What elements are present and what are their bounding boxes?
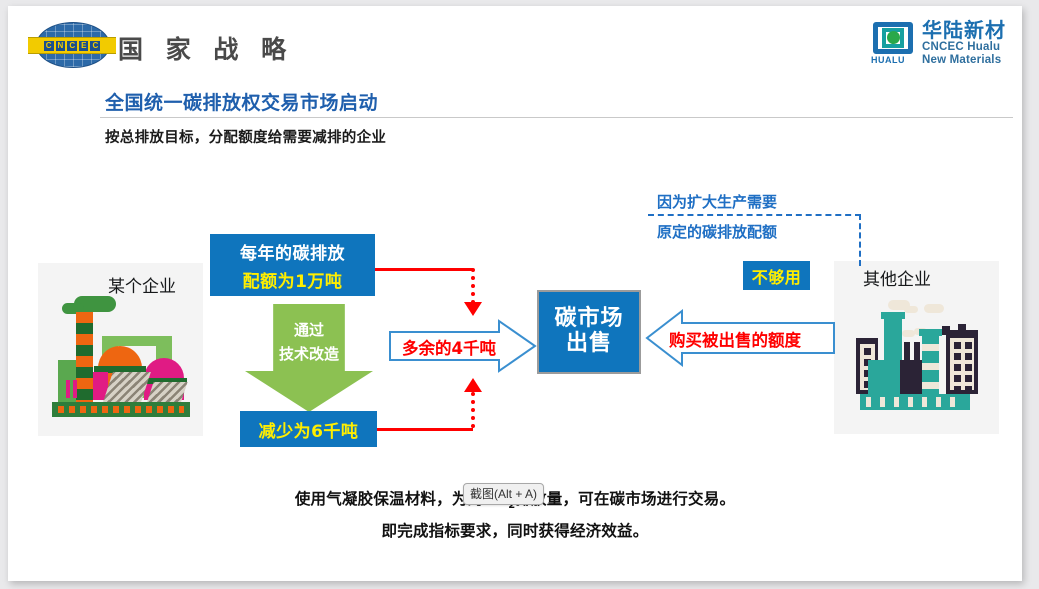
caption-line1-part-a: 使用气凝胶保温材料，为 bbox=[295, 490, 468, 508]
page-title: 全国统一碳排放权交易市场启动 bbox=[105, 88, 378, 115]
caption-line-2: 即完成指标要求，同时获得经济效益。 bbox=[8, 516, 1022, 547]
reduced-emission-box: 减少为6千吨 bbox=[240, 411, 377, 447]
hualu-en-line2: New Materials bbox=[922, 54, 1006, 66]
annual-quota-box: 每年的碳排放 配额为1万吨 bbox=[210, 234, 375, 296]
cncec-letter: E bbox=[79, 41, 88, 51]
red-dotted-line-bottom bbox=[471, 392, 475, 428]
carbon-market-box: 碳市场 出售 bbox=[537, 290, 641, 374]
screenshot-tooltip: 截图(Alt + A) bbox=[463, 483, 544, 505]
right-factory-label: 其他企业 bbox=[863, 265, 931, 290]
carbon-market-line1: 碳市场 bbox=[554, 307, 623, 332]
annual-quota-line2: 配额为1万吨 bbox=[243, 267, 343, 292]
dashed-connector-vertical bbox=[859, 214, 861, 266]
colorful-factory-icon bbox=[46, 294, 196, 429]
hualu-en-line1: CNCEC Hualu bbox=[922, 41, 1006, 53]
hualu-mark-label: HUALU bbox=[871, 55, 905, 65]
cncec-logo: C N C E C bbox=[28, 20, 116, 68]
red-arrowhead-down-icon bbox=[464, 302, 482, 316]
expansion-note-line1: 因为扩大生产需要 bbox=[657, 191, 777, 212]
expansion-note-line2: 原定的碳排放配额 bbox=[657, 221, 777, 242]
slide-canvas: C N C E C 国 家 战 略 HUALU 华陆新材 CNCEC Hualu… bbox=[8, 6, 1022, 581]
cncec-letter: C bbox=[44, 41, 54, 51]
cncec-letter: N bbox=[56, 41, 66, 51]
red-dotted-line-top bbox=[471, 268, 475, 304]
hualu-wordmark: 华陆新材 CNCEC Hualu New Materials bbox=[922, 20, 1006, 65]
green-arrow-line1: 通过 bbox=[294, 318, 324, 342]
reduced-emission-line1: 减少为6千吨 bbox=[259, 417, 359, 442]
title-divider bbox=[100, 117, 1013, 118]
carbon-market-line2: 出售 bbox=[566, 332, 612, 357]
hualu-logo: HUALU 华陆新材 CNCEC Hualu New Materials bbox=[871, 16, 1006, 70]
green-arrow-line2: 技术改造 bbox=[279, 342, 339, 366]
hualu-cn-name: 华陆新材 bbox=[922, 20, 1006, 41]
not-enough-box: 不够用 bbox=[743, 261, 810, 290]
purchase-arrow-label: 购买被出售的额度 bbox=[669, 327, 801, 351]
annual-quota-line1: 每年的碳排放 bbox=[240, 239, 345, 264]
purchase-arrow: 购买被出售的额度 bbox=[645, 309, 835, 367]
cncec-letter: C bbox=[67, 41, 77, 51]
surplus-arrow-label: 多余的4千吨 bbox=[402, 335, 496, 359]
teal-factory-icon bbox=[854, 298, 984, 426]
dashed-connector-horizontal bbox=[648, 214, 861, 216]
not-enough-label: 不够用 bbox=[752, 264, 802, 288]
red-connector-bottom bbox=[377, 428, 473, 431]
technology-upgrade-arrow: 通过 技术改造 bbox=[245, 304, 373, 412]
left-factory-label: 某个企业 bbox=[108, 272, 176, 297]
national-strategy-heading: 国 家 战 略 bbox=[118, 30, 293, 66]
cncec-letter: C bbox=[90, 41, 100, 51]
red-connector-top bbox=[375, 268, 473, 271]
surplus-arrow: 多余的4千吨 bbox=[389, 319, 537, 373]
caption-line1-part-c: 排放量，可在碳市场进行交易。 bbox=[515, 490, 735, 508]
red-arrowhead-up-icon bbox=[464, 378, 482, 392]
page-subtitle: 按总排放目标，分配额度给需要减排的企业 bbox=[105, 126, 386, 147]
hualu-mark-icon: HUALU bbox=[871, 21, 915, 65]
cncec-wordmark: C N C E C bbox=[28, 37, 116, 54]
